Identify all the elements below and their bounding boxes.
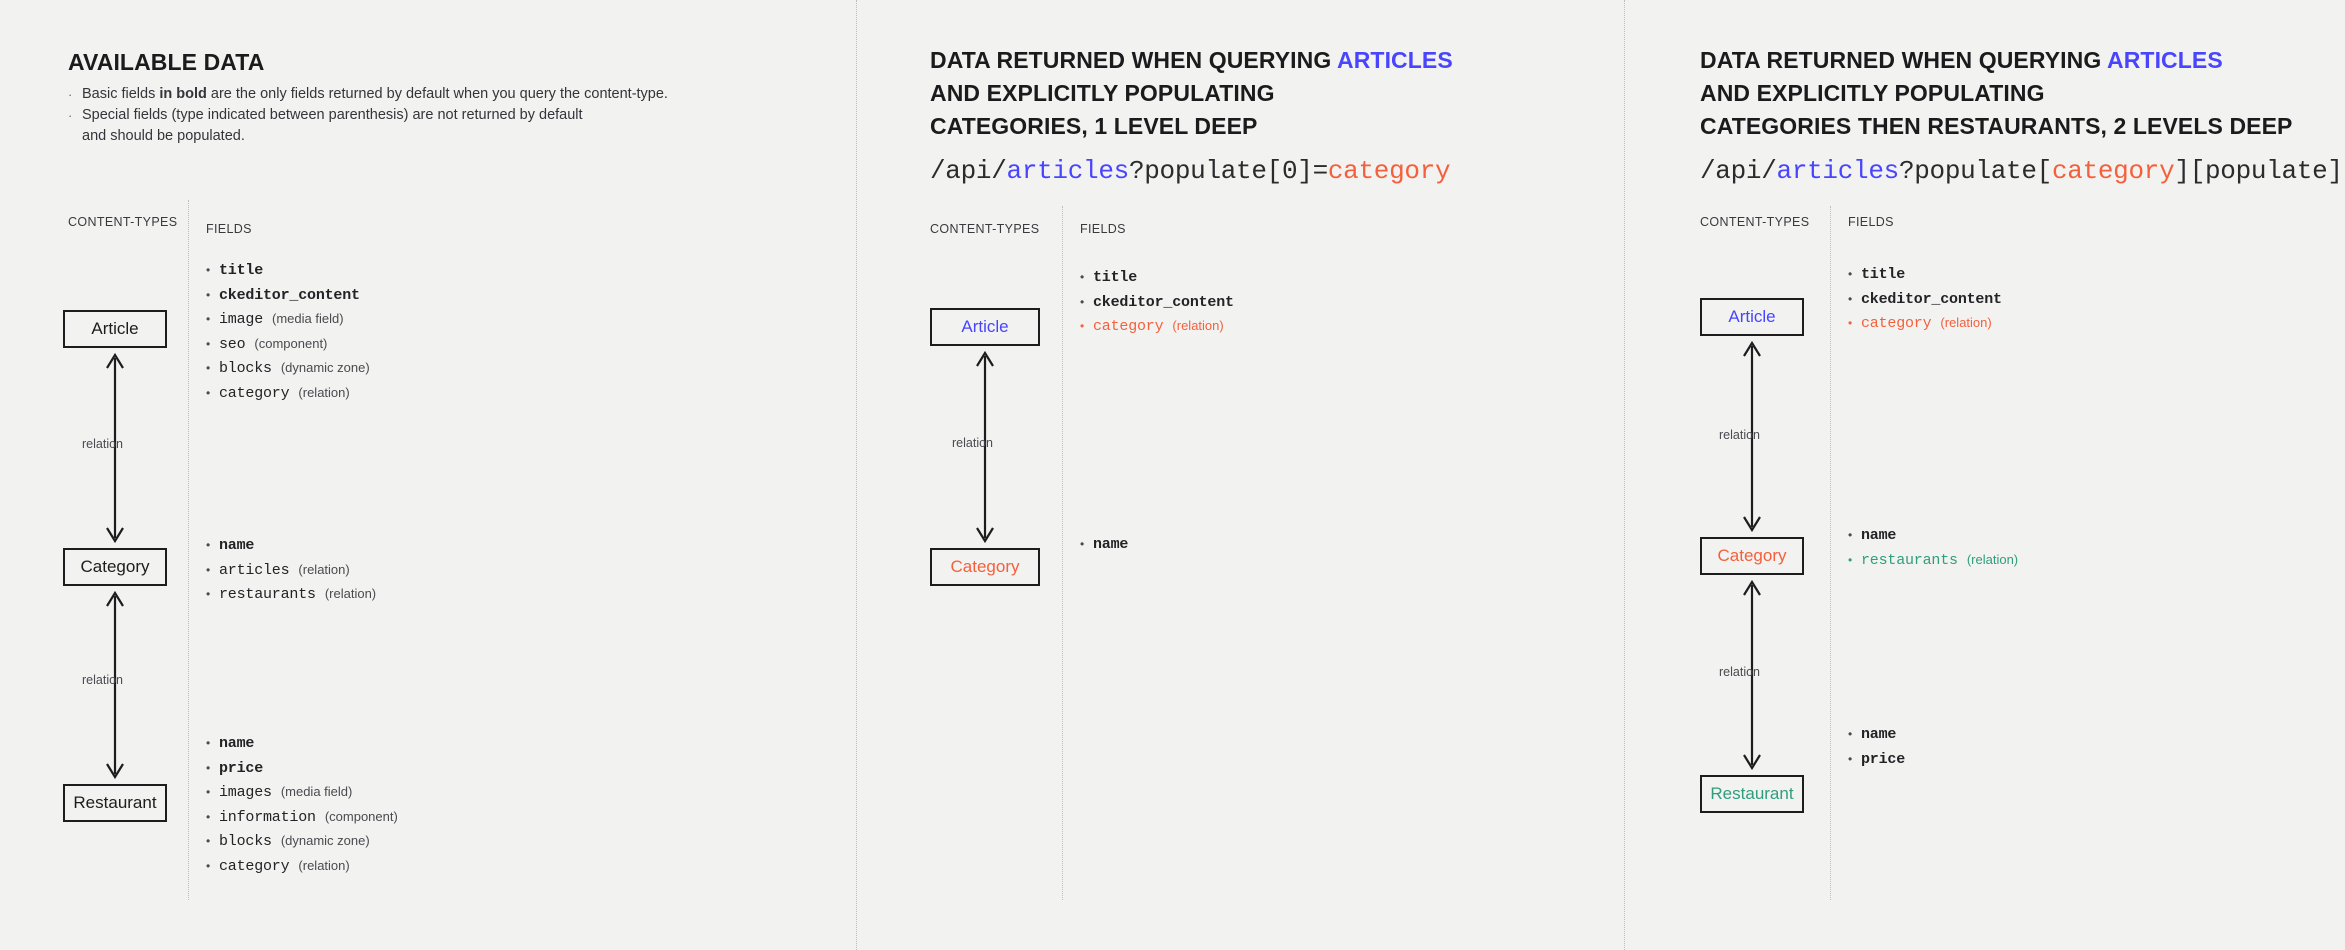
title-accent: ARTICLES [2107, 47, 2223, 73]
bullet-dot-icon: • [1080, 538, 1093, 550]
entity-box-category[interactable]: Category [1700, 537, 1804, 575]
field-type: (media field) [281, 784, 353, 799]
query-1-level-heading: DATA RETURNED WHEN QUERYING ARTICLES AND… [930, 44, 1453, 191]
entity-box-article[interactable]: Article [63, 310, 167, 348]
entity-label: Article [1728, 307, 1775, 327]
field-type: (media field) [272, 311, 344, 326]
field-name: images [219, 784, 272, 801]
entity-label: Category [81, 557, 150, 577]
bullet-dot-icon: • [206, 539, 219, 551]
field-group-restaurant: •name •price [1848, 726, 1914, 775]
field-name: restaurants [1861, 552, 1958, 569]
field-type: (component) [254, 336, 327, 351]
entity-box-category[interactable]: Category [930, 548, 1040, 586]
page-title-line-2: AND EXPLICITLY POPULATING [930, 77, 1453, 110]
field-type: (relation) [298, 562, 349, 577]
field-name: articles [219, 562, 289, 579]
bullet-dot-icon: • [206, 362, 219, 374]
sublabel-content-types: CONTENT-TYPES [930, 222, 1039, 236]
api-segment-articles: articles [1777, 156, 1899, 186]
field-name: category [1861, 315, 1931, 332]
bullet-dot-icon: • [1848, 317, 1861, 329]
field-type: (component) [325, 809, 398, 824]
relation-label: relation [1719, 665, 1760, 679]
intro-text-bold: in bold [159, 86, 207, 102]
sublabel-fields: FIELDS [1080, 222, 1126, 236]
field-row: •ckeditor_content [206, 287, 370, 312]
field-name: category [219, 858, 289, 875]
sublabel-fields: FIELDS [206, 222, 252, 236]
page-title-line-3: CATEGORIES, 1 LEVEL DEEP [930, 110, 1453, 143]
page-title-line-1: DATA RETURNED WHEN QUERYING ARTICLES [930, 44, 1453, 77]
intro-text-pre: Basic fields [82, 86, 159, 102]
panel-available-data: AVAILABLE DATA · Basic fields in bold ar… [0, 0, 856, 950]
field-name: category [219, 385, 289, 402]
bullet-dot-icon: • [206, 860, 219, 872]
bullet-dot-icon: • [1848, 293, 1861, 305]
field-name: image [219, 311, 263, 328]
field-type: (relation) [1940, 315, 1991, 330]
field-row: •title [1848, 266, 2011, 291]
field-row: •ckeditor_content [1848, 291, 2011, 316]
field-name: category [1093, 318, 1163, 335]
field-name: price [219, 760, 263, 777]
field-name: price [1861, 751, 1905, 768]
bullet-dot-icon: • [206, 289, 219, 301]
field-group-category: •name •restaurants(relation) [1848, 527, 2018, 576]
field-row: •images(media field) [206, 784, 398, 809]
api-segment-articles: articles [1007, 156, 1129, 186]
panel-query-2-levels: DATA RETURNED WHEN QUERYING ARTICLES AND… [1624, 0, 2345, 950]
field-type: (dynamic zone) [281, 833, 370, 848]
field-group-article: •title •ckeditor_content •category(relat… [1848, 266, 2011, 340]
bullet-dot-icon: • [206, 313, 219, 325]
field-group-category: •name [1080, 536, 1137, 561]
api-segment-category: category [1328, 156, 1450, 186]
field-name: ckeditor_content [1093, 294, 1234, 311]
field-row: •name [206, 537, 376, 562]
bullet-dot-icon: • [1848, 554, 1861, 566]
bullet-dot-icon: • [206, 811, 219, 823]
entity-label: Restaurant [73, 793, 156, 813]
entity-box-article[interactable]: Article [930, 308, 1040, 346]
field-row: •articles(relation) [206, 562, 376, 587]
page-title-line-1: DATA RETURNED WHEN QUERYING ARTICLES [1700, 44, 2345, 77]
list-item: · Special fields (type indicated between… [68, 105, 678, 126]
field-group-article: •title •ckeditor_content •image(media fi… [206, 262, 370, 409]
field-row: •name [1848, 527, 2018, 552]
fields-divider-col3 [1830, 206, 1831, 900]
field-row: •name [1848, 726, 1914, 751]
entity-label: Article [961, 317, 1008, 337]
field-name: name [1861, 527, 1896, 544]
field-name: name [1861, 726, 1896, 743]
api-path: /api/articles?populate[0]=category [930, 151, 1453, 191]
field-name: ckeditor_content [1861, 291, 2002, 308]
bullet-dot-icon: • [1848, 728, 1861, 740]
api-segment: /api/ [930, 156, 1007, 186]
field-type: (relation) [1967, 552, 2018, 567]
relation-label: relation [82, 437, 123, 451]
bullet-dot-icon: • [206, 762, 219, 774]
field-row: •name [1080, 536, 1137, 561]
page-title-line-3: CATEGORIES THEN RESTAURANTS, 2 LEVELS DE… [1700, 110, 2345, 143]
query-2-levels-heading: DATA RETURNED WHEN QUERYING ARTICLES AND… [1700, 44, 2345, 191]
bullet-dot-icon: • [1848, 753, 1861, 765]
sublabel-content-types: CONTENT-TYPES [1700, 215, 1809, 229]
intro-text-continuation: and should be populated. [82, 126, 245, 147]
bullet-dot-icon: • [206, 588, 219, 600]
entity-label: Category [1718, 546, 1787, 566]
field-row: •price [1848, 751, 1914, 776]
api-segment: /api/ [1700, 156, 1777, 186]
fields-divider-col2 [1062, 206, 1063, 900]
entity-label: Category [951, 557, 1020, 577]
field-row: •ckeditor_content [1080, 294, 1243, 319]
bullet-dot-icon: • [206, 338, 219, 350]
bullet-dot-icon: • [1080, 320, 1093, 332]
field-row: •seo(component) [206, 336, 370, 361]
bullet-dot-icon: • [206, 835, 219, 847]
field-type: (dynamic zone) [281, 360, 370, 375]
bullet-dot-icon: • [1848, 529, 1861, 541]
bullet-dot-icon: • [1080, 296, 1093, 308]
field-group-category: •name •articles(relation) •restaurants(r… [206, 537, 376, 611]
field-row: •restaurants(relation) [206, 586, 376, 611]
bullet-dot-icon: • [206, 737, 219, 749]
relation-label: relation [82, 673, 123, 687]
intro-text-pre: Special fields (type indicated between p… [82, 105, 583, 126]
entity-label: Restaurant [1710, 784, 1793, 804]
api-segment: ?populate[0]= [1129, 156, 1328, 186]
field-name: name [219, 537, 254, 554]
field-name: seo [219, 336, 245, 353]
field-row: •information(component) [206, 809, 398, 834]
bullet-dot-icon: · [68, 105, 82, 126]
page-title-line-2: AND EXPLICITLY POPULATING [1700, 77, 2345, 110]
field-row: •image(media field) [206, 311, 370, 336]
relation-label: relation [952, 436, 993, 450]
relation-label: relation [1719, 428, 1760, 442]
api-segment: ][populate][0]= [2174, 156, 2345, 186]
api-segment: ?populate[ [1899, 156, 2052, 186]
page-title: AVAILABLE DATA [68, 46, 264, 79]
field-name: title [219, 262, 263, 279]
field-name: name [1093, 536, 1128, 553]
field-row: •category(relation) [1080, 318, 1243, 343]
bullet-dot-icon: • [1848, 268, 1861, 280]
field-name: restaurants [219, 586, 316, 603]
available-data-heading: AVAILABLE DATA [68, 46, 264, 79]
list-item: · Basic fields in bold are the only fiel… [68, 84, 678, 105]
panel-query-1-level: DATA RETURNED WHEN QUERYING ARTICLES AND… [856, 0, 1624, 950]
sublabel-fields: FIELDS [1848, 215, 1894, 229]
title-text: DATA RETURNED WHEN QUERYING [1700, 47, 2107, 73]
entity-box-restaurant[interactable]: Restaurant [63, 784, 167, 822]
field-name: ckeditor_content [219, 287, 360, 304]
field-type: (relation) [1172, 318, 1223, 333]
field-row: •blocks(dynamic zone) [206, 360, 370, 385]
list-item-continuation: and should be populated. [68, 126, 678, 147]
field-row: •name [206, 735, 398, 760]
api-segment-category: category [2052, 156, 2174, 186]
bullet-dot-icon: • [206, 387, 219, 399]
field-type: (relation) [298, 385, 349, 400]
entity-box-article[interactable]: Article [1700, 298, 1804, 336]
field-name: title [1093, 269, 1137, 286]
sublabel-content-types: CONTENT-TYPES [68, 215, 177, 229]
entity-label: Article [91, 319, 138, 339]
field-name: information [219, 809, 316, 826]
field-row: •title [206, 262, 370, 287]
title-accent: ARTICLES [1337, 47, 1453, 73]
title-text: DATA RETURNED WHEN QUERYING [930, 47, 1337, 73]
field-row: •blocks(dynamic zone) [206, 833, 398, 858]
field-type: (relation) [325, 586, 376, 601]
field-group-article: •title •ckeditor_content •category(relat… [1080, 269, 1243, 343]
bullet-dot-icon: • [206, 786, 219, 798]
bullet-dot-icon: · [68, 84, 82, 105]
field-row: •price [206, 760, 398, 785]
field-group-restaurant: •name •price •images(media field) •infor… [206, 735, 398, 882]
bullet-dot-icon: • [206, 264, 219, 276]
field-type: (relation) [298, 858, 349, 873]
intro-text-post: are the only fields returned by default … [207, 86, 668, 102]
api-path: /api/articles?populate[category][populat… [1700, 151, 2345, 191]
bullet-dot-icon: • [206, 564, 219, 576]
field-row: •category(relation) [1848, 315, 2011, 340]
field-name: blocks [219, 833, 272, 850]
field-row: •category(relation) [206, 385, 370, 410]
field-row: •title [1080, 269, 1243, 294]
bullet-dot-icon: • [1080, 271, 1093, 283]
intro-bullets: · Basic fields in bold are the only fiel… [68, 84, 678, 147]
fields-divider-col1 [188, 200, 189, 900]
entity-box-category[interactable]: Category [63, 548, 167, 586]
field-row: •category(relation) [206, 858, 398, 883]
field-name: blocks [219, 360, 272, 377]
entity-box-restaurant[interactable]: Restaurant [1700, 775, 1804, 813]
field-name: name [219, 735, 254, 752]
field-row: •restaurants(relation) [1848, 552, 2018, 577]
field-name: title [1861, 266, 1905, 283]
